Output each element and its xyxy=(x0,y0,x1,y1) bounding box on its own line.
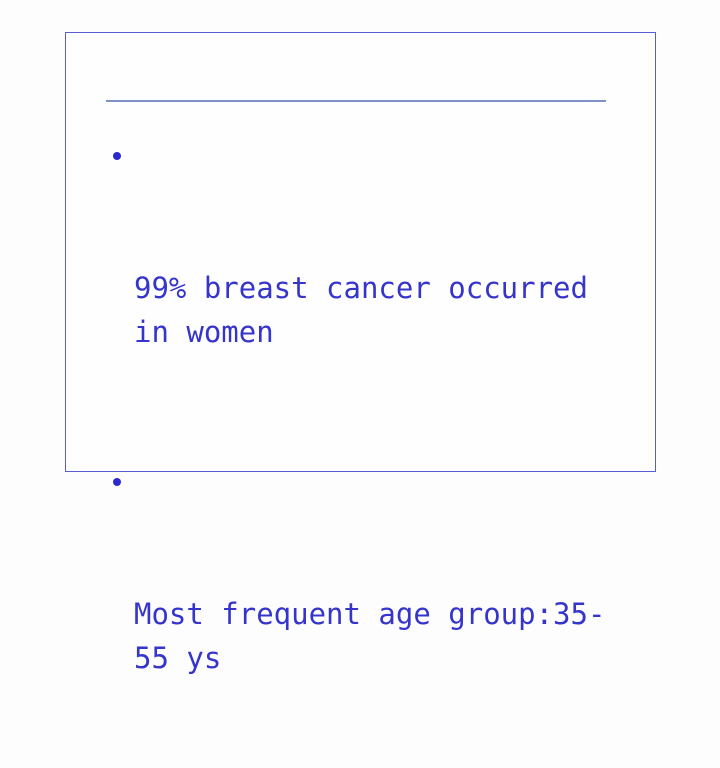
slide-frame: 99% breast cancer occurred in women Most… xyxy=(65,32,656,472)
list-item: 99% breast cancer occurred in women xyxy=(106,134,636,442)
list-item: Most frequent age group:35-55 ys xyxy=(106,460,636,768)
list-item-label: Most frequent age group:35-55 ys xyxy=(134,592,636,680)
horizontal-rule-icon xyxy=(106,100,606,102)
list-item-label: 99% breast cancer occurred in women xyxy=(134,266,636,354)
round-bullet-icon xyxy=(113,152,121,160)
slide-title xyxy=(106,41,606,93)
round-bullet-icon xyxy=(113,478,121,486)
bullet-list: 99% breast cancer occurred in women Most… xyxy=(106,134,636,768)
slide-canvas: 99% breast cancer occurred in women Most… xyxy=(0,0,720,509)
